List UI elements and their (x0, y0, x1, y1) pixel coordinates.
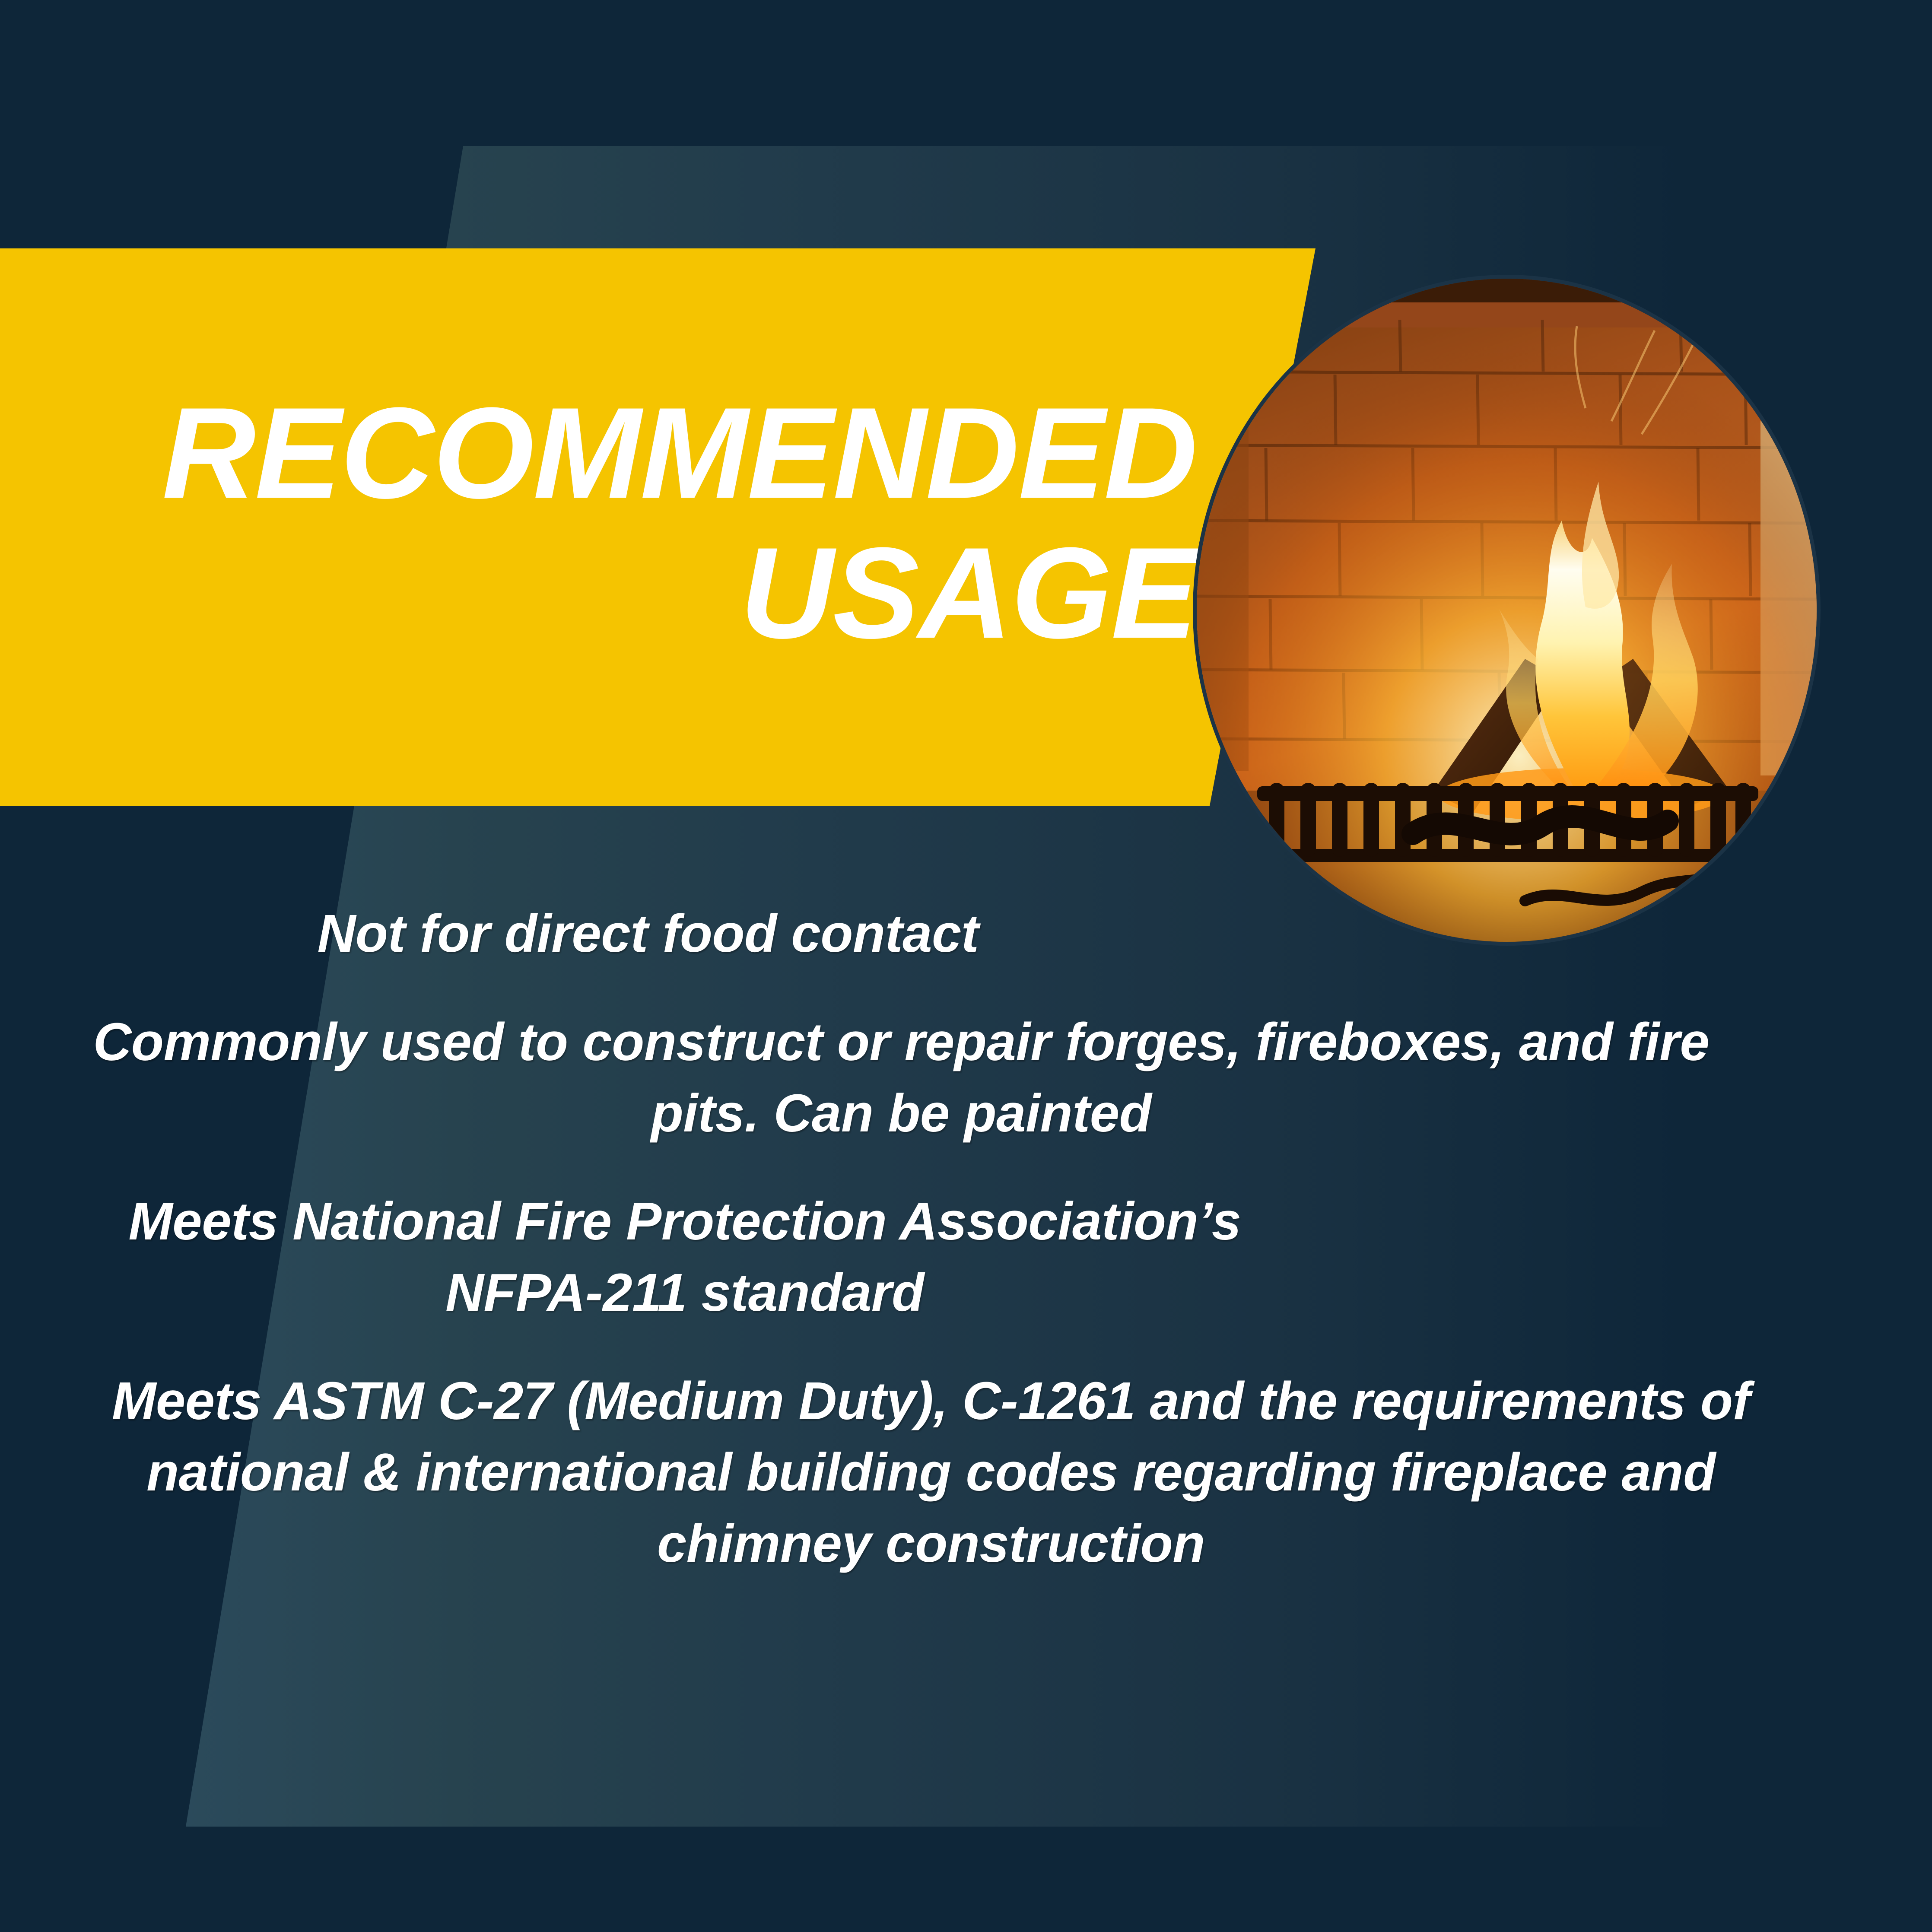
fireplace-photo (1197, 279, 1817, 942)
bullet-point-1: Not for direct food contact (65, 899, 1797, 970)
bullet-point-2: Commonly used to construct or repair for… (65, 1007, 1797, 1150)
bullet-point-4: Meets ASTM C-27 (Medium Duty), C-1261 an… (65, 1366, 1797, 1579)
infographic-card: RECOMMENDED USAGE (0, 0, 1932, 1932)
body-copy: Not for direct food contact Commonly use… (65, 899, 1797, 1580)
bullet-point-3: Meets National Fire Protection Associati… (65, 1186, 1797, 1329)
page-title: RECOMMENDED USAGE (0, 383, 1322, 671)
title-banner: RECOMMENDED USAGE (0, 248, 1322, 806)
